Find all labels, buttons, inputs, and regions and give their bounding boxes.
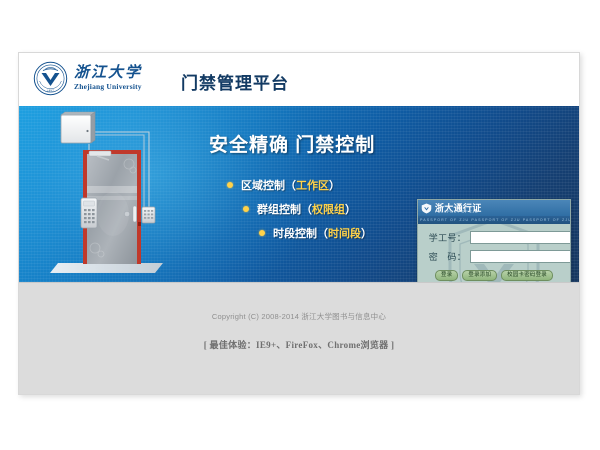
- site-header: 1897 浙江大学 Zhejiang University 门禁管理平台: [19, 53, 579, 106]
- bullet-dot-icon: [227, 182, 233, 188]
- banner-bullet-time-control: 时段控制（ 时间段 ）: [259, 225, 424, 241]
- shield-icon: [421, 203, 432, 214]
- page-shell: 1897 浙江大学 Zhejiang University 门禁管理平台: [18, 52, 580, 395]
- password-label: 密 码：: [424, 250, 466, 263]
- login-marquee: PASSPORT OF ZJU PASSPORT OF ZJU PASSPORT…: [418, 216, 570, 224]
- keypad-reader: [81, 198, 97, 228]
- card-reader: [142, 207, 155, 223]
- logo-name-cn: 浙江大学: [74, 66, 142, 81]
- banner-bullet-area-control: 区域控制（ 工作区 ）: [227, 177, 424, 193]
- page-title: 门禁管理平台: [181, 69, 289, 94]
- zju-seal-icon: 1897: [33, 61, 68, 96]
- controller-box: [61, 112, 95, 143]
- login-add-button[interactable]: 登录添加: [462, 270, 497, 281]
- logo-name-en: Zhejiang University: [74, 83, 142, 91]
- bullet-text-accent: 权限组: [312, 201, 345, 217]
- bullet-text-suffix: ）: [361, 225, 372, 241]
- staff-id-field[interactable]: [470, 231, 571, 244]
- banner-copy: 安全精确 门禁控制 区域控制（ 工作区 ） 群组控制（ 权限组 ） 时段控制（ …: [209, 130, 424, 241]
- login-form: 学工号： 密 码： 登录 登录添加 校园卡密码登录: [418, 224, 570, 281]
- site-footer: Copyright (C) 2008-2014 浙江大学图书与信息中心 [ 最佳…: [19, 282, 579, 395]
- bullet-text-accent: 时间段: [328, 225, 361, 241]
- bullet-text-prefix: 区域控制（: [241, 177, 296, 193]
- staff-id-label: 学工号：: [424, 231, 466, 244]
- bullet-dot-icon: [259, 230, 265, 236]
- password-row: 密 码：: [424, 250, 564, 263]
- bullet-text-prefix: 时段控制（: [273, 225, 328, 241]
- login-titlebar: 浙大通行证 PASSPORT OF ZJU: [418, 200, 570, 216]
- campus-card-login-button[interactable]: 校园卡密码登录: [501, 270, 553, 281]
- logo-wordmark: 浙江大学 Zhejiang University: [74, 66, 142, 91]
- floor-plate: [50, 263, 163, 273]
- access-control-door-illustration: [43, 110, 183, 282]
- login-button-row: 登录 登录添加 校园卡密码登录: [424, 270, 564, 281]
- bullet-text-prefix: 群组控制（: [257, 201, 312, 217]
- banner-bullet-group-control: 群组控制（ 权限组 ）: [243, 201, 424, 217]
- login-panel: 浙大通行证 PASSPORT OF ZJU PASSPORT OF ZJU PA…: [417, 199, 571, 282]
- svg-text:1897: 1897: [47, 88, 54, 92]
- bullet-text-suffix: ）: [329, 177, 340, 193]
- login-button[interactable]: 登录: [435, 270, 458, 281]
- staff-id-row: 学工号：: [424, 231, 564, 244]
- banner-slogan: 安全精确 门禁控制: [209, 130, 424, 157]
- login-title-en: PASSPORT OF ZJU: [435, 210, 478, 214]
- footer-browser-note: [ 最佳体验：IE9+、FireFox、Chrome浏览器 ]: [19, 338, 579, 351]
- footer-copyright: Copyright (C) 2008-2014 浙江大学图书与信息中心: [19, 283, 579, 322]
- bullet-text-suffix: ）: [345, 201, 356, 217]
- hero-banner: 安全精确 门禁控制 区域控制（ 工作区 ） 群组控制（ 权限组 ） 时段控制（ …: [19, 106, 579, 282]
- password-field[interactable]: [470, 250, 571, 263]
- site-logo[interactable]: 1897 浙江大学 Zhejiang University: [33, 61, 142, 96]
- bullet-dot-icon: [243, 206, 249, 212]
- bullet-text-accent: 工作区: [296, 177, 329, 193]
